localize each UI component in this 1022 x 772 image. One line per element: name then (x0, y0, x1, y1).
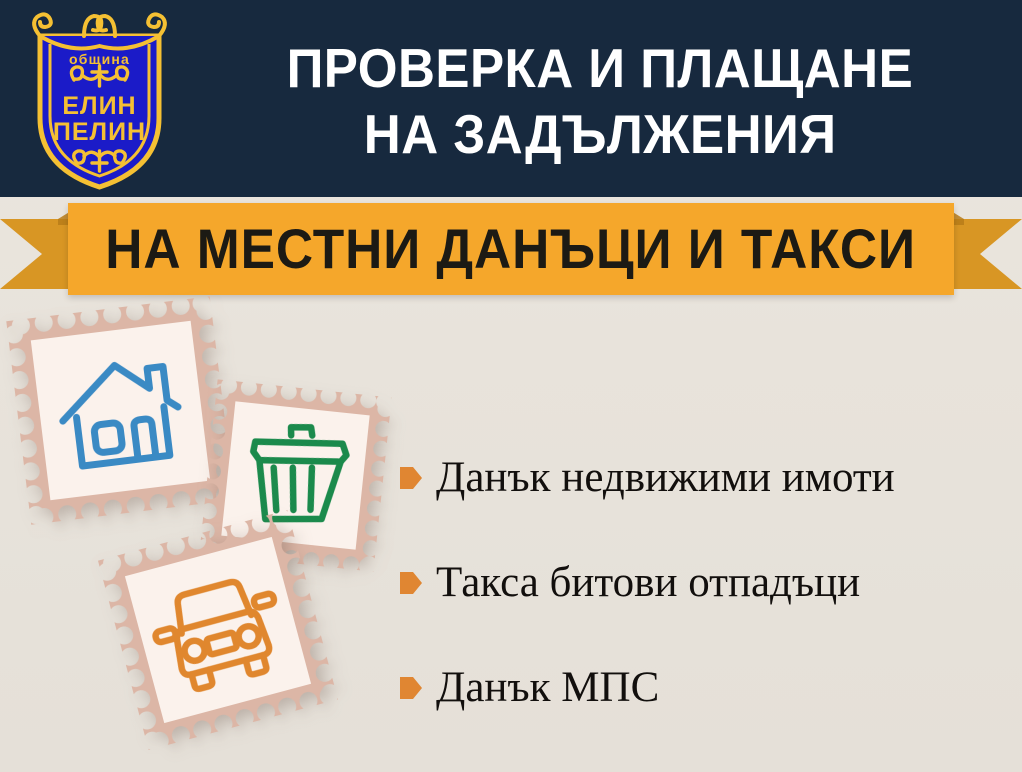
list-item-label: Такса битови отпадъци (436, 560, 860, 606)
tax-type-list: Данък недвижими имоти Такса битови отпад… (400, 425, 1010, 740)
list-item[interactable]: Данък МПС (400, 635, 1010, 740)
crest-label-line2: ПЕЛИН (53, 118, 146, 146)
header-bar: община ЕЛИН ПЕЛИН (0, 0, 1022, 197)
list-item-label: Данък недвижими имоти (436, 455, 895, 501)
pennant-bullet-icon (400, 570, 422, 596)
title-line-2: НА ЗАДЪЛЖЕНИЯ (364, 101, 837, 167)
ribbon-band: НА МЕСТНИ ДАНЪЦИ И ТАКСИ (68, 203, 954, 295)
stamp-card-property (6, 296, 234, 524)
list-item-label: Данък МПС (436, 665, 659, 711)
list-item[interactable]: Такса битови отпадъци (400, 530, 1010, 635)
crest-label-line1: ЕЛИН (62, 92, 136, 120)
page-title: ПРОВЕРКА И ПЛАЩАНЕ НА ЗАДЪЛЖЕНИЯ (195, 18, 1005, 183)
subtitle-ribbon: НА МЕСТНИ ДАНЪЦИ И ТАКСИ (0, 197, 1022, 307)
poster-root: община ЕЛИН ПЕЛИН (0, 0, 1022, 772)
list-item[interactable]: Данък недвижими имоти (400, 425, 1010, 530)
title-line-1: ПРОВЕРКА И ПЛАЩАНЕ (287, 35, 914, 101)
ribbon-label: НА МЕСТНИ ДАНЪЦИ И ТАКСИ (106, 221, 917, 277)
coat-of-arms-icon: община ЕЛИН ПЕЛИН (22, 6, 177, 192)
stamp-card-group (0, 300, 420, 760)
pennant-bullet-icon (400, 465, 422, 491)
pennant-bullet-icon (400, 675, 422, 701)
